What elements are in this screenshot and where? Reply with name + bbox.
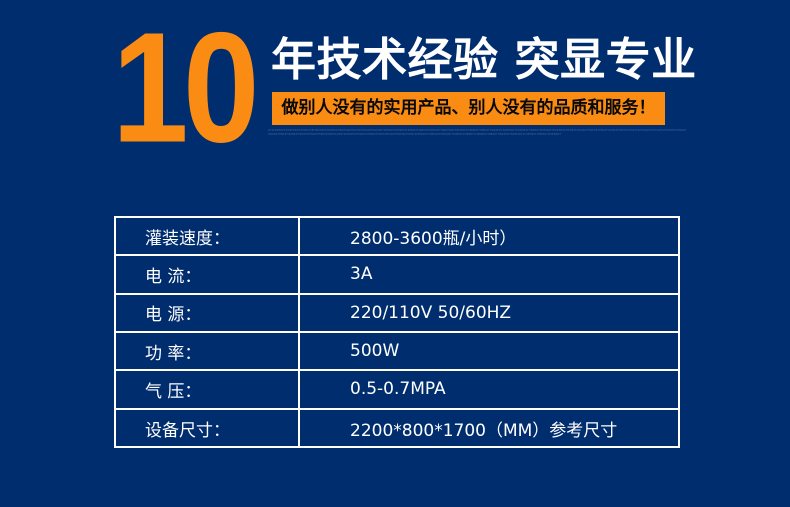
decorative-micro-text: DFIDNNFNFEHTNFENHTEHRNTKEHRNTNEKHRTNKEHN… <box>268 129 688 145</box>
table-row: 灌装速度： 2800-3600瓶/小时） <box>116 218 678 256</box>
headline-text: 年技术经验 突显专业 <box>271 31 683 89</box>
table-row: 电 流： 3A <box>116 256 678 294</box>
spec-value: 2800-3600瓶/小时） <box>300 218 678 254</box>
spec-value: 2200*800*1700（MM）参考尺寸 <box>300 410 678 448</box>
spec-label: 气 压： <box>116 371 300 407</box>
spec-value: 220/110V 50/60HZ <box>300 295 678 331</box>
spec-label: 电 流： <box>116 256 300 292</box>
spec-label: 设备尺寸： <box>116 410 300 448</box>
spec-label: 电 源： <box>116 295 300 331</box>
years-number: 10 <box>112 10 254 167</box>
sub-banner-text: 做别人没有的实用产品、别人没有的品质和服务！ <box>272 92 665 125</box>
table-row: 电 源： 220/110V 50/60HZ <box>116 295 678 333</box>
table-row: 功 率： 500W <box>116 333 678 371</box>
spec-value: 3A <box>300 256 678 292</box>
spec-value: 500W <box>300 333 678 369</box>
spec-value: 0.5-0.7MPA <box>300 371 678 407</box>
table-row: 设备尺寸： 2200*800*1700（MM）参考尺寸 <box>116 410 678 448</box>
spec-label: 功 率： <box>116 333 300 369</box>
table-row: 气 压： 0.5-0.7MPA <box>116 371 678 409</box>
specification-table: 灌装速度： 2800-3600瓶/小时） 电 流： 3A 电 源： 220/11… <box>114 216 680 448</box>
promo-banner-page: 10 年技术经验 突显专业 做别人没有的实用产品、别人没有的品质和服务！ DFI… <box>0 0 790 507</box>
header-section: 10 年技术经验 突显专业 做别人没有的实用产品、别人没有的品质和服务！ DFI… <box>0 0 790 165</box>
spec-label: 灌装速度： <box>116 218 300 254</box>
sub-banner-bar: 做别人没有的实用产品、别人没有的品质和服务！ <box>272 92 665 125</box>
